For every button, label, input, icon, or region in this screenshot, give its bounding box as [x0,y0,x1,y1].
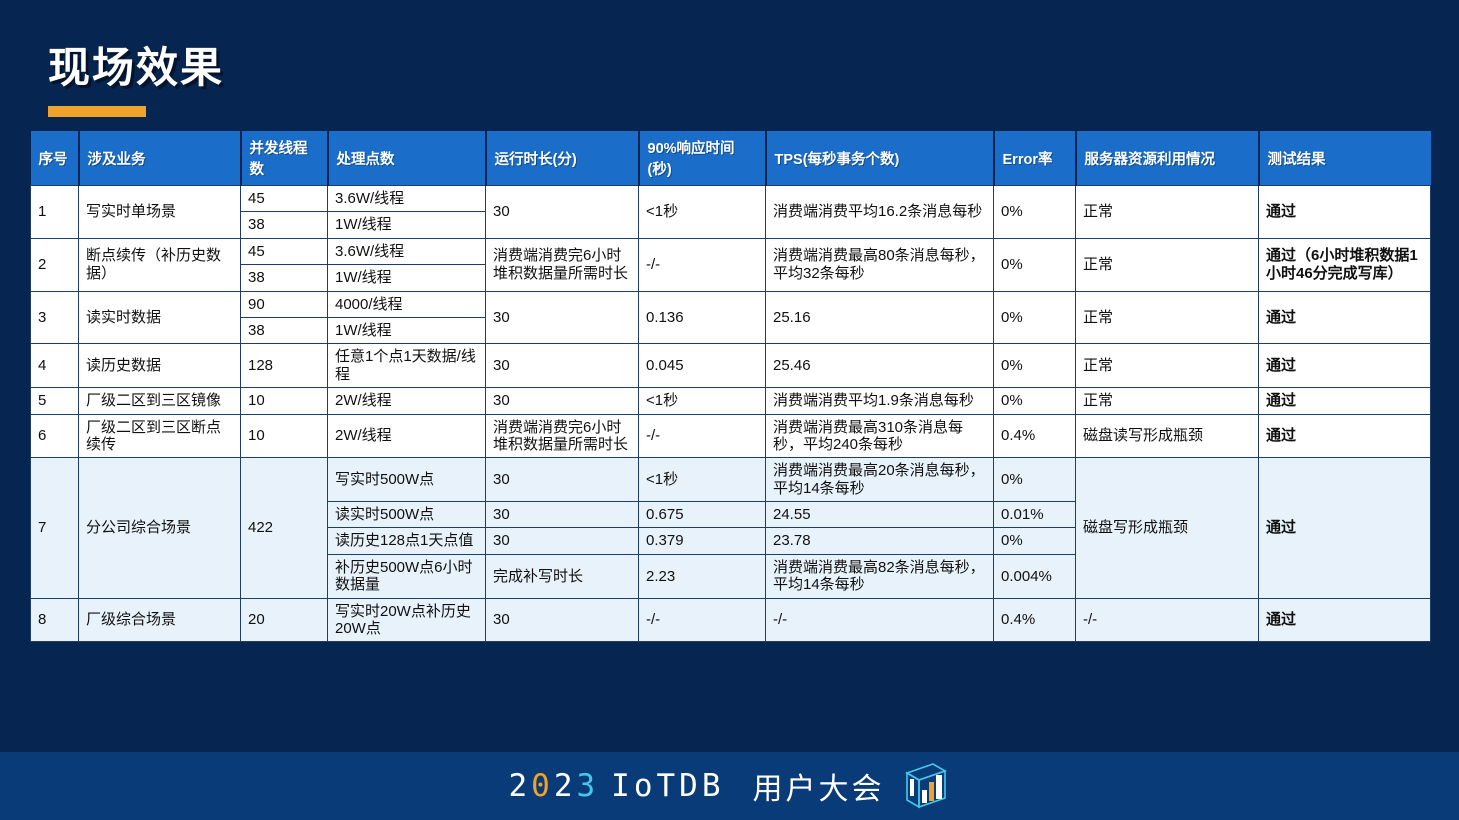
cell-business: 厂级综合场景 [79,598,241,642]
cell-error: 0% [994,388,1076,414]
col-header-error[interactable]: Error率 [994,131,1076,186]
cell-response: 2.23 [639,554,766,598]
cell-tps: 消费端消费最高310条消息每秒，平均240条每秒 [766,414,994,458]
cell-points: 4000/线程 [328,291,486,317]
cell-error: 0.4% [994,598,1076,642]
slide-canvas: 现场效果 序号 涉及业务 并发线程数 处理点数 运行时长(分) 90%响应时间(… [0,0,1459,820]
cell-points: 读历史128点1天点值 [328,528,486,554]
cell-result: 通过 [1259,458,1431,598]
cell-business: 分公司综合场景 [79,458,241,598]
logo-digit-3: 3 [577,768,600,804]
table-row: 1写实时单场景453.6W/线程30<1秒消费端消费平均16.2条消息每秒0%正… [31,186,1431,212]
table-row: 8厂级综合场景20写实时20W点补历史20W点30-/--/-0.4%-/-通过 [31,598,1431,642]
cell-tps: 25.46 [766,344,994,388]
cell-tps: 消费端消费平均1.9条消息每秒 [766,388,994,414]
cell-error: 0.004% [994,554,1076,598]
cell-response: <1秒 [639,186,766,239]
cell-error: 0% [994,344,1076,388]
cell-response: 0.045 [639,344,766,388]
col-header-response[interactable]: 90%响应时间(秒) [639,131,766,186]
cell-points: 1W/线程 [328,212,486,238]
table-row: 5厂级二区到三区镜像102W/线程30<1秒消费端消费平均1.9条消息每秒0%正… [31,388,1431,414]
cell-business: 写实时单场景 [79,186,241,239]
cell-response: <1秒 [639,388,766,414]
cell-business: 断点续传（补历史数据） [79,238,241,291]
cell-duration: 30 [486,502,639,528]
cell-business: 厂级二区到三区镜像 [79,388,241,414]
logo-event-name-cn: 用户大会 [753,764,885,808]
cell-points: 读实时500W点 [328,502,486,528]
col-header-duration[interactable]: 运行时长(分) [486,131,639,186]
cell-threads: 38 [241,212,328,238]
cell-business: 读实时数据 [79,291,241,344]
cell-business: 厂级二区到三区断点续传 [79,414,241,458]
cell-server: 正常 [1076,344,1259,388]
cell-result: 通过 [1259,598,1431,642]
cell-points: 补历史500W点6小时数据量 [328,554,486,598]
table-row: 2断点续传（补历史数据）453.6W/线程消费端消费完6小时堆积数据量所需时长-… [31,238,1431,264]
cell-business: 读历史数据 [79,344,241,388]
cell-response: -/- [639,238,766,291]
cell-tps: 消费端消费最高20条消息每秒，平均14条每秒 [766,458,994,502]
cell-points: 1W/线程 [328,265,486,291]
table-header: 序号 涉及业务 并发线程数 处理点数 运行时长(分) 90%响应时间(秒) TP… [31,131,1431,186]
table-row: 4读历史数据128任意1个点1天数据/线程300.04525.460%正常通过 [31,344,1431,388]
cell-no: 6 [31,414,79,458]
cell-error: 0% [994,238,1076,291]
logo-digit-2b: 2 [554,768,577,804]
cell-duration: 消费端消费完6小时堆积数据量所需时长 [486,238,639,291]
table-header-row: 序号 涉及业务 并发线程数 处理点数 运行时长(分) 90%响应时间(秒) TP… [31,131,1431,186]
cell-no: 2 [31,238,79,291]
footer-logo-group: 2 0 2 3 IoTDB 用户大会 [0,752,1459,820]
cell-error: 0% [994,528,1076,554]
cell-no: 1 [31,186,79,239]
cell-response: -/- [639,414,766,458]
page-title: 现场效果 [48,34,224,95]
logo-brand-name: IoTDB [611,768,724,804]
cell-threads: 20 [241,598,328,642]
footer-bar: 2 0 2 3 IoTDB 用户大会 [0,752,1459,820]
cell-error: 0.4% [994,414,1076,458]
cell-tps: 消费端消费最高82条消息每秒，平均14条每秒 [766,554,994,598]
cell-no: 7 [31,458,79,598]
cell-threads: 10 [241,414,328,458]
cell-error: 0% [994,291,1076,344]
cell-response: 0.675 [639,502,766,528]
cell-no: 5 [31,388,79,414]
cell-duration: 30 [486,291,639,344]
cell-response: 0.379 [639,528,766,554]
cell-duration: 30 [486,528,639,554]
performance-table: 序号 涉及业务 并发线程数 处理点数 运行时长(分) 90%响应时间(秒) TP… [30,131,1431,642]
cell-result: 通过 [1259,344,1431,388]
cell-points: 写实时500W点 [328,458,486,502]
cell-points: 写实时20W点补历史20W点 [328,598,486,642]
col-header-threads[interactable]: 并发线程数 [241,131,328,186]
cell-result: 通过 [1259,388,1431,414]
cell-points: 2W/线程 [328,414,486,458]
cell-server: 正常 [1076,388,1259,414]
cell-threads: 90 [241,291,328,317]
cell-result: 通过 [1259,186,1431,239]
cell-threads: 10 [241,388,328,414]
cell-tps: 24.55 [766,502,994,528]
cell-duration: 30 [486,388,639,414]
cell-tps: 25.16 [766,291,994,344]
logo-digit-0: 0 [531,768,554,804]
table-body: 1写实时单场景453.6W/线程30<1秒消费端消费平均16.2条消息每秒0%正… [31,186,1431,642]
cell-no: 4 [31,344,79,388]
col-header-points[interactable]: 处理点数 [328,131,486,186]
cell-server: 正常 [1076,238,1259,291]
performance-table-container: 序号 涉及业务 并发线程数 处理点数 运行时长(分) 90%响应时间(秒) TP… [30,131,1430,642]
cell-threads: 422 [241,458,328,598]
cell-threads: 45 [241,186,328,212]
cell-tps: 23.78 [766,528,994,554]
cell-duration: 30 [486,344,639,388]
title-underline-bar [48,106,146,117]
cell-server: 正常 [1076,186,1259,239]
cell-points: 任意1个点1天数据/线程 [328,344,486,388]
cell-no: 8 [31,598,79,642]
cell-error: 0.01% [994,502,1076,528]
cell-result: 通过 [1259,414,1431,458]
col-header-business[interactable]: 涉及业务 [79,131,241,186]
cell-duration: 消费端消费完6小时堆积数据量所需时长 [486,414,639,458]
table-row: 3读实时数据904000/线程300.13625.160%正常通过 [31,291,1431,317]
cell-error: 0% [994,458,1076,502]
cell-duration: 完成补写时长 [486,554,639,598]
cell-threads: 128 [241,344,328,388]
cell-tps: 消费端消费最高80条消息每秒，平均32条每秒 [766,238,994,291]
col-header-tps[interactable]: TPS(每秒事务个数) [766,131,994,186]
cell-threads: 38 [241,265,328,291]
col-header-server[interactable]: 服务器资源利用情况 [1076,131,1259,186]
cell-tps: -/- [766,598,994,642]
cell-points: 3.6W/线程 [328,238,486,264]
cell-duration: 30 [486,458,639,502]
cell-threads: 45 [241,238,328,264]
conference-logo-text: 2 0 2 3 IoTDB [508,768,724,804]
cell-response: <1秒 [639,458,766,502]
cell-error: 0% [994,186,1076,239]
cell-no: 3 [31,291,79,344]
iotdb-cube-logo-icon [899,760,951,812]
cell-points: 2W/线程 [328,388,486,414]
col-header-result[interactable]: 测试结果 [1259,131,1431,186]
cell-result: 通过 [1259,291,1431,344]
table-row: 7分公司综合场景422写实时500W点30<1秒消费端消费最高20条消息每秒，平… [31,458,1431,502]
cell-server: 磁盘写形成瓶颈 [1076,458,1259,598]
col-header-no[interactable]: 序号 [31,131,79,186]
logo-digit-2a: 2 [508,768,531,804]
cell-points: 1W/线程 [328,317,486,343]
cell-server: -/- [1076,598,1259,642]
cell-duration: 30 [486,598,639,642]
table-row: 6厂级二区到三区断点续传102W/线程消费端消费完6小时堆积数据量所需时长-/-… [31,414,1431,458]
cell-duration: 30 [486,186,639,239]
cell-server: 正常 [1076,291,1259,344]
cell-response: 0.136 [639,291,766,344]
cell-result: 通过（6小时堆积数据1小时46分完成写库） [1259,238,1431,291]
cell-points: 3.6W/线程 [328,186,486,212]
cell-threads: 38 [241,317,328,343]
cell-server: 磁盘读写形成瓶颈 [1076,414,1259,458]
cell-tps: 消费端消费平均16.2条消息每秒 [766,186,994,239]
cell-response: -/- [639,598,766,642]
